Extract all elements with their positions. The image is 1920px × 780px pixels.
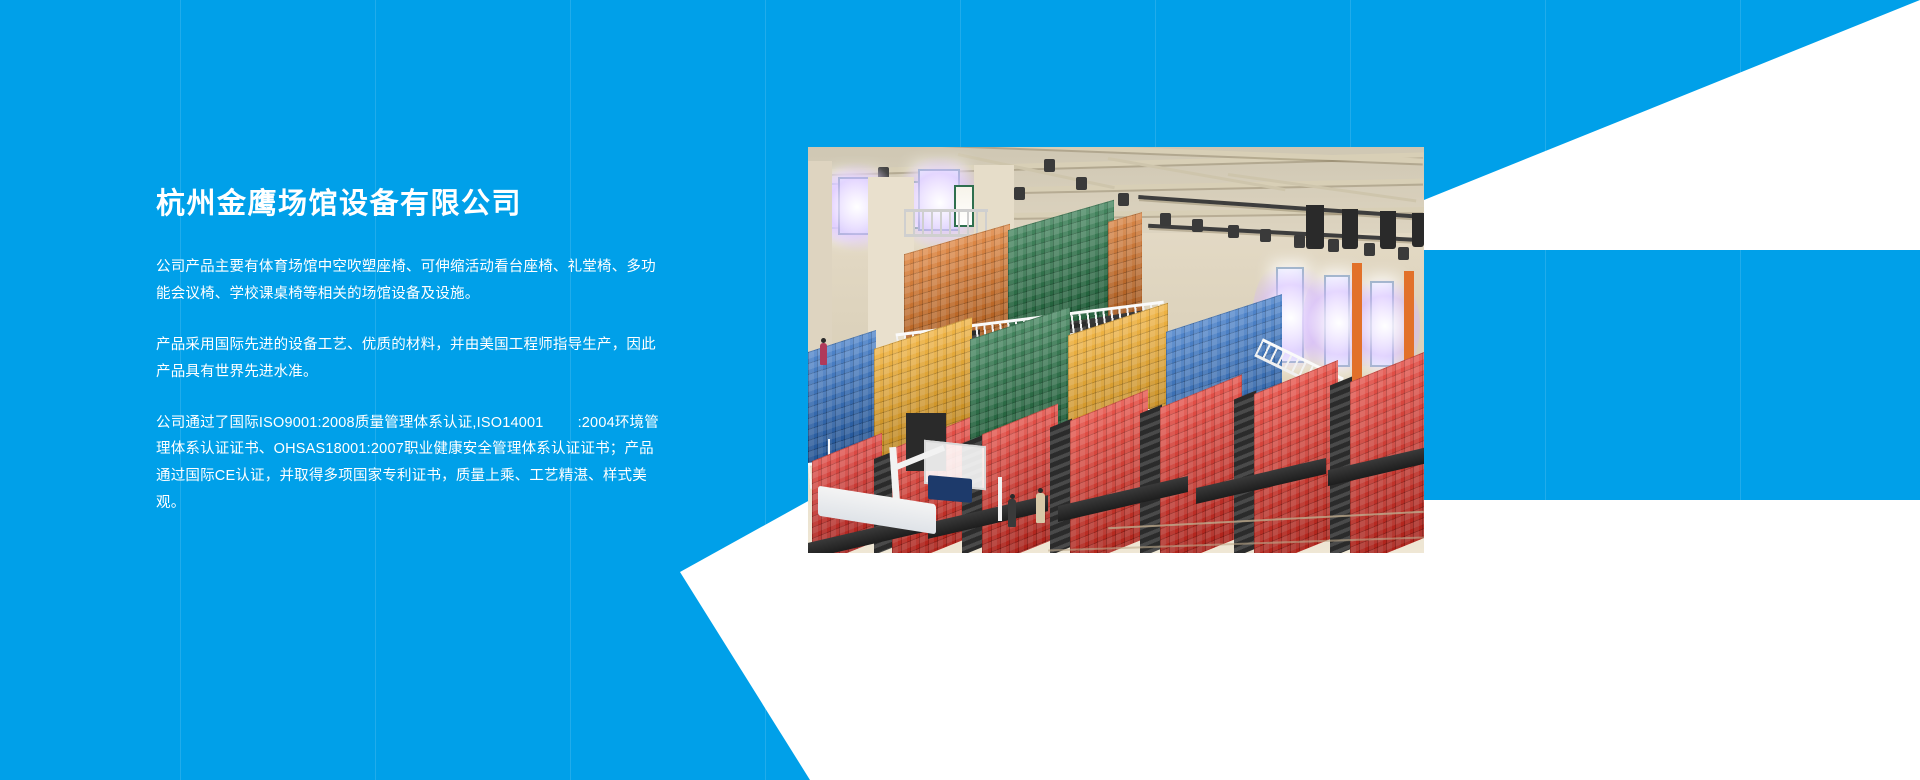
stage-light: [1192, 219, 1203, 232]
stage-light: [1228, 225, 1239, 238]
bleacher-steps-red: [1140, 405, 1162, 553]
stage-light: [1014, 187, 1025, 200]
stage-light: [1294, 235, 1305, 248]
spectator: [1036, 493, 1045, 523]
certifications-part1: 公司通过了国际ISO9001:2008质量管理体系认证,ISO14001: [156, 415, 544, 431]
gymnasium-photo-content: [808, 147, 1424, 553]
hanging-speaker: [1412, 213, 1424, 247]
banner-stage: 杭州金鹰场馆设备有限公司 公司产品主要有体育场馆中空吹塑座椅、可伸缩活动看台座椅…: [0, 0, 1920, 780]
bleacher-steps-red: [1234, 391, 1256, 553]
stage-light: [1398, 247, 1409, 260]
hanging-speaker: [1380, 211, 1396, 249]
intro-text-column: 杭州金鹰场馆设备有限公司 公司产品主要有体育场馆中空吹塑座椅、可伸缩活动看台座椅…: [156, 186, 666, 517]
stage-light: [1118, 193, 1129, 206]
paragraph-certifications: 公司通过了国际ISO9001:2008质量管理体系认证,ISO14001:200…: [156, 410, 666, 517]
stage-light: [1364, 243, 1375, 256]
bleacher-block-red-5: [1160, 374, 1242, 553]
page-title: 杭州金鹰场馆设备有限公司: [156, 186, 666, 222]
spectator: [820, 343, 827, 365]
paragraph-products: 公司产品主要有体育场馆中空吹塑座椅、可伸缩活动看台座椅、礼堂椅、多功能会议椅、学…: [156, 254, 666, 308]
stage-light: [1160, 213, 1171, 226]
stage-light: [1044, 159, 1055, 172]
basketball-net-post: [998, 477, 1002, 521]
hanging-speaker: [1306, 205, 1324, 249]
stage-light: [1328, 239, 1339, 252]
stage-light: [1076, 177, 1087, 190]
hanging-speaker: [1342, 209, 1358, 249]
wall-pillar: [808, 161, 832, 361]
gymnasium-photo: [808, 147, 1424, 553]
bleacher-steps-red: [1050, 419, 1072, 553]
stage-light: [1260, 229, 1271, 242]
paragraph-technology: 产品采用国际先进的设备工艺、优质的材料，并由美国工程师指导生产，因此产品具有世界…: [156, 332, 666, 386]
spectator: [1008, 499, 1016, 527]
bleacher-block-red-6: [1254, 360, 1338, 553]
basketball-base-panel: [928, 475, 972, 503]
